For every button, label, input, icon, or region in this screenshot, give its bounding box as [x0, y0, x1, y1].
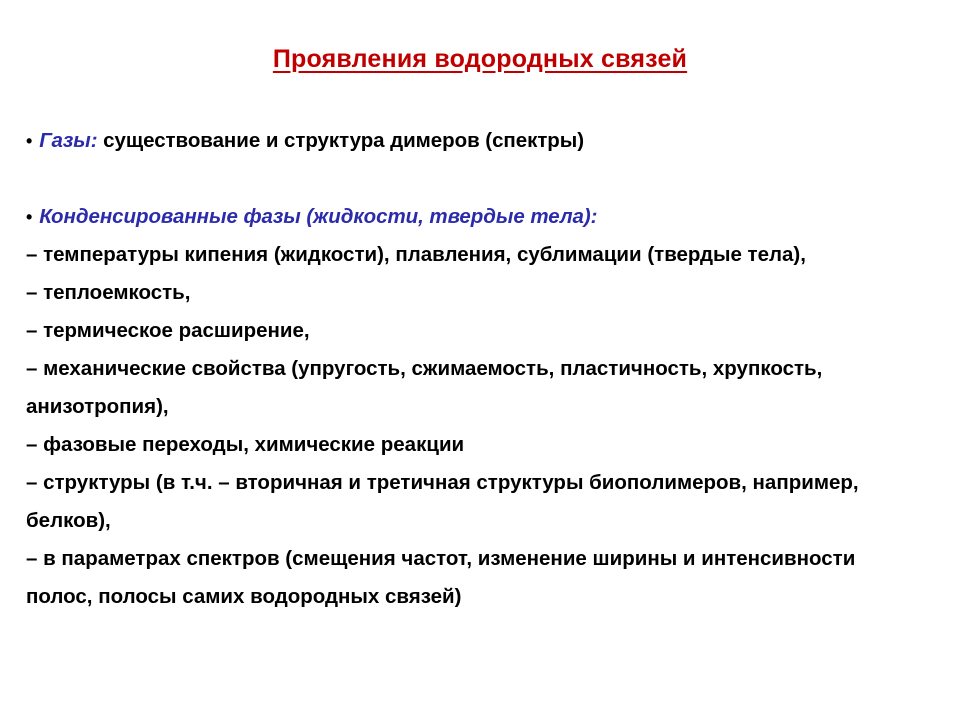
list-item: – термическое расширение,	[26, 312, 926, 350]
list-item-text: структуры (в т.ч. – вторичная и третична…	[43, 471, 859, 494]
slide-body: •Газы: существование и структура димеров…	[26, 122, 926, 616]
dash-marker-icon: –	[26, 433, 37, 456]
title-block: Проявления водородных связей	[0, 46, 960, 74]
list-item: – фазовые переходы, химические реакции	[26, 426, 926, 464]
body-spacer	[26, 160, 926, 198]
list-item-continuation-text: анизотропия),	[26, 395, 169, 418]
list-item-continuation-text: полос, полосы самих водородных связей)	[26, 585, 461, 608]
dash-marker-icon: –	[26, 281, 37, 304]
bullet-condensed-label: Конденсированные фазы (жидкости, твердые…	[39, 205, 597, 228]
dash-marker-icon: –	[26, 319, 37, 342]
page-title: Проявления водородных связей	[273, 46, 687, 74]
list-item: – структуры (в т.ч. – вторичная и третич…	[26, 464, 926, 502]
list-item-text: теплоемкость,	[43, 281, 190, 304]
dash-marker-icon: –	[26, 243, 37, 266]
list-item-continuation: белков),	[26, 502, 926, 540]
bullet-item-condensed: •Конденсированные фазы (жидкости, тверды…	[26, 198, 926, 236]
list-item: – теплоемкость,	[26, 274, 926, 312]
dash-marker-icon: –	[26, 471, 37, 494]
bullet-dot-icon: •	[26, 207, 39, 227]
list-item-continuation-text: белков),	[26, 509, 111, 532]
slide-canvas: Проявления водородных связей •Газы: суще…	[0, 0, 960, 720]
bullet-gases-text: существование и структура димеров (спект…	[98, 129, 584, 152]
dash-marker-icon: –	[26, 547, 37, 570]
list-item-text: механические свойства (упругость, сжимае…	[43, 357, 822, 380]
list-item: – температуры кипения (жидкости), плавле…	[26, 236, 926, 274]
list-item-text: фазовые переходы, химические реакции	[43, 433, 464, 456]
dash-marker-icon: –	[26, 357, 37, 380]
bullet-item-gases: •Газы: существование и структура димеров…	[26, 122, 926, 160]
list-item-continuation: полос, полосы самих водородных связей)	[26, 578, 926, 616]
list-item-continuation: анизотропия),	[26, 388, 926, 426]
list-item: – в параметрах спектров (смещения частот…	[26, 540, 926, 578]
bullet-gases-label: Газы:	[39, 129, 97, 152]
bullet-dot-icon: •	[26, 131, 39, 151]
list-item: – механические свойства (упругость, сжим…	[26, 350, 926, 388]
list-item-text: температуры кипения (жидкости), плавлени…	[43, 243, 806, 266]
list-item-text: в параметрах спектров (смещения частот, …	[43, 547, 855, 570]
list-item-text: термическое расширение,	[43, 319, 310, 342]
